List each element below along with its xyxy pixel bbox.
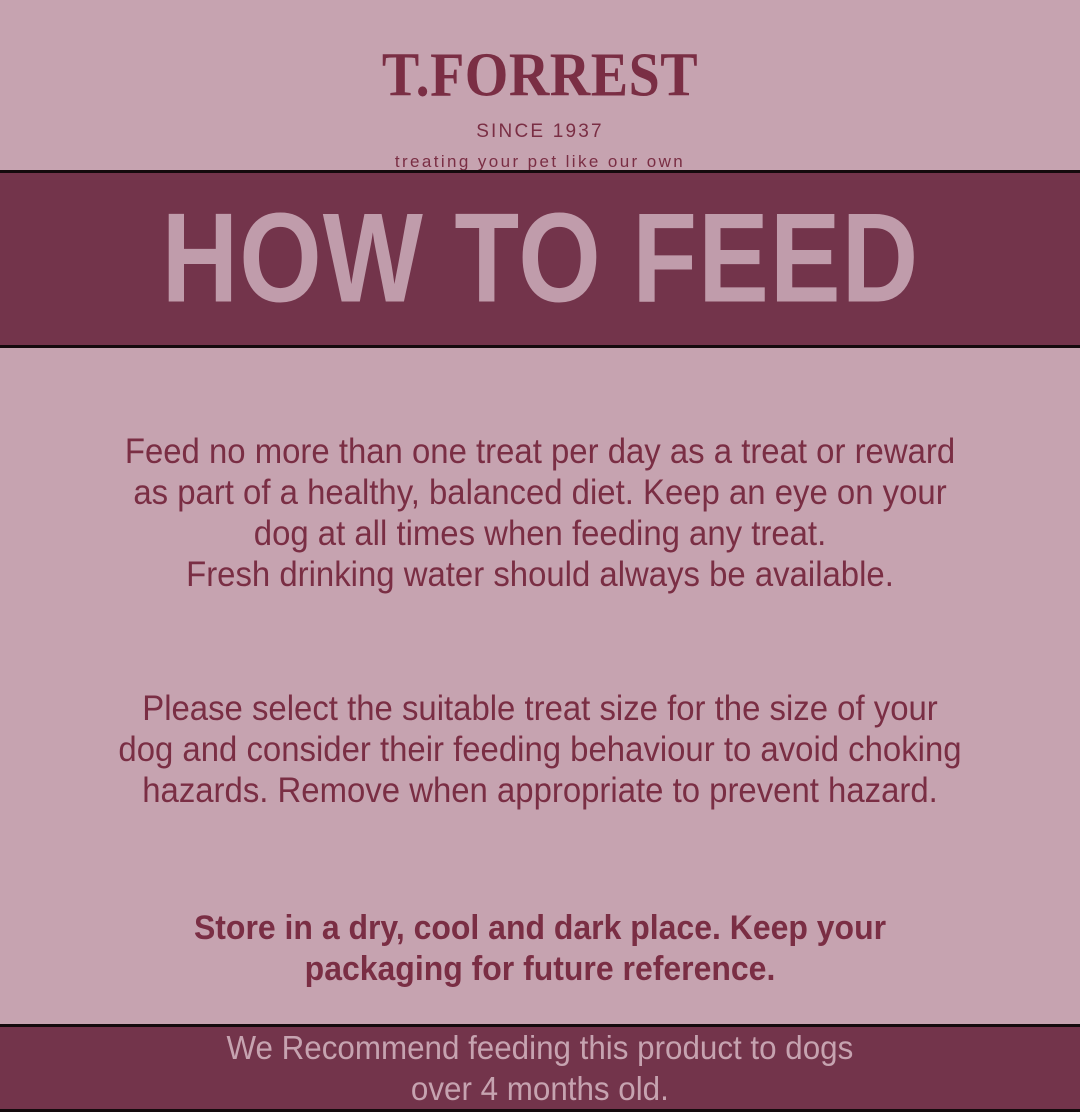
storage-notice-line: packaging for future reference. xyxy=(117,949,963,990)
recommendation-text: We Recommend feeding this product to dog… xyxy=(227,1027,854,1109)
page-title: HOW TO FEED xyxy=(161,196,919,323)
paragraph-line: dog and consider their feeding behaviour… xyxy=(79,729,1000,770)
instructions-section: Feed no more than one treat per day as a… xyxy=(0,348,1080,1024)
paragraph-line: Please select the suitable treat size fo… xyxy=(79,688,1000,729)
paragraph-line: as part of a healthy, balanced diet. Kee… xyxy=(79,472,1000,513)
how-to-feed-label: T.FORREST SINCE 1937 treating your pet l… xyxy=(0,0,1080,1080)
recommendation-line: We Recommend feeding this product to dog… xyxy=(227,1027,854,1068)
paragraph-line: hazards. Remove when appropriate to prev… xyxy=(79,770,1000,811)
paragraph-line: Fresh drinking water should always be av… xyxy=(79,554,1000,595)
title-band: HOW TO FEED xyxy=(0,170,1080,348)
brand-logo-wordmark: T.FORREST xyxy=(382,44,698,107)
brand-header: T.FORREST SINCE 1937 treating your pet l… xyxy=(0,0,1080,170)
brand-tagline-text: treating your pet like our own xyxy=(395,153,685,170)
feeding-instructions-paragraph: Feed no more than one treat per day as a… xyxy=(79,431,1000,595)
treat-size-paragraph: Please select the suitable treat size fo… xyxy=(79,688,1000,811)
storage-notice-line: Store in a dry, cool and dark place. Kee… xyxy=(117,908,963,949)
storage-notice: Store in a dry, cool and dark place. Kee… xyxy=(117,908,963,990)
paragraph-line: dog at all times when feeding any treat. xyxy=(79,513,1000,554)
paragraph-line: Feed no more than one treat per day as a… xyxy=(79,431,1000,472)
brand-since-text: SINCE 1937 xyxy=(476,122,604,141)
recommendation-band: We Recommend feeding this product to dog… xyxy=(0,1024,1080,1112)
recommendation-line: over 4 months old. xyxy=(227,1068,854,1109)
